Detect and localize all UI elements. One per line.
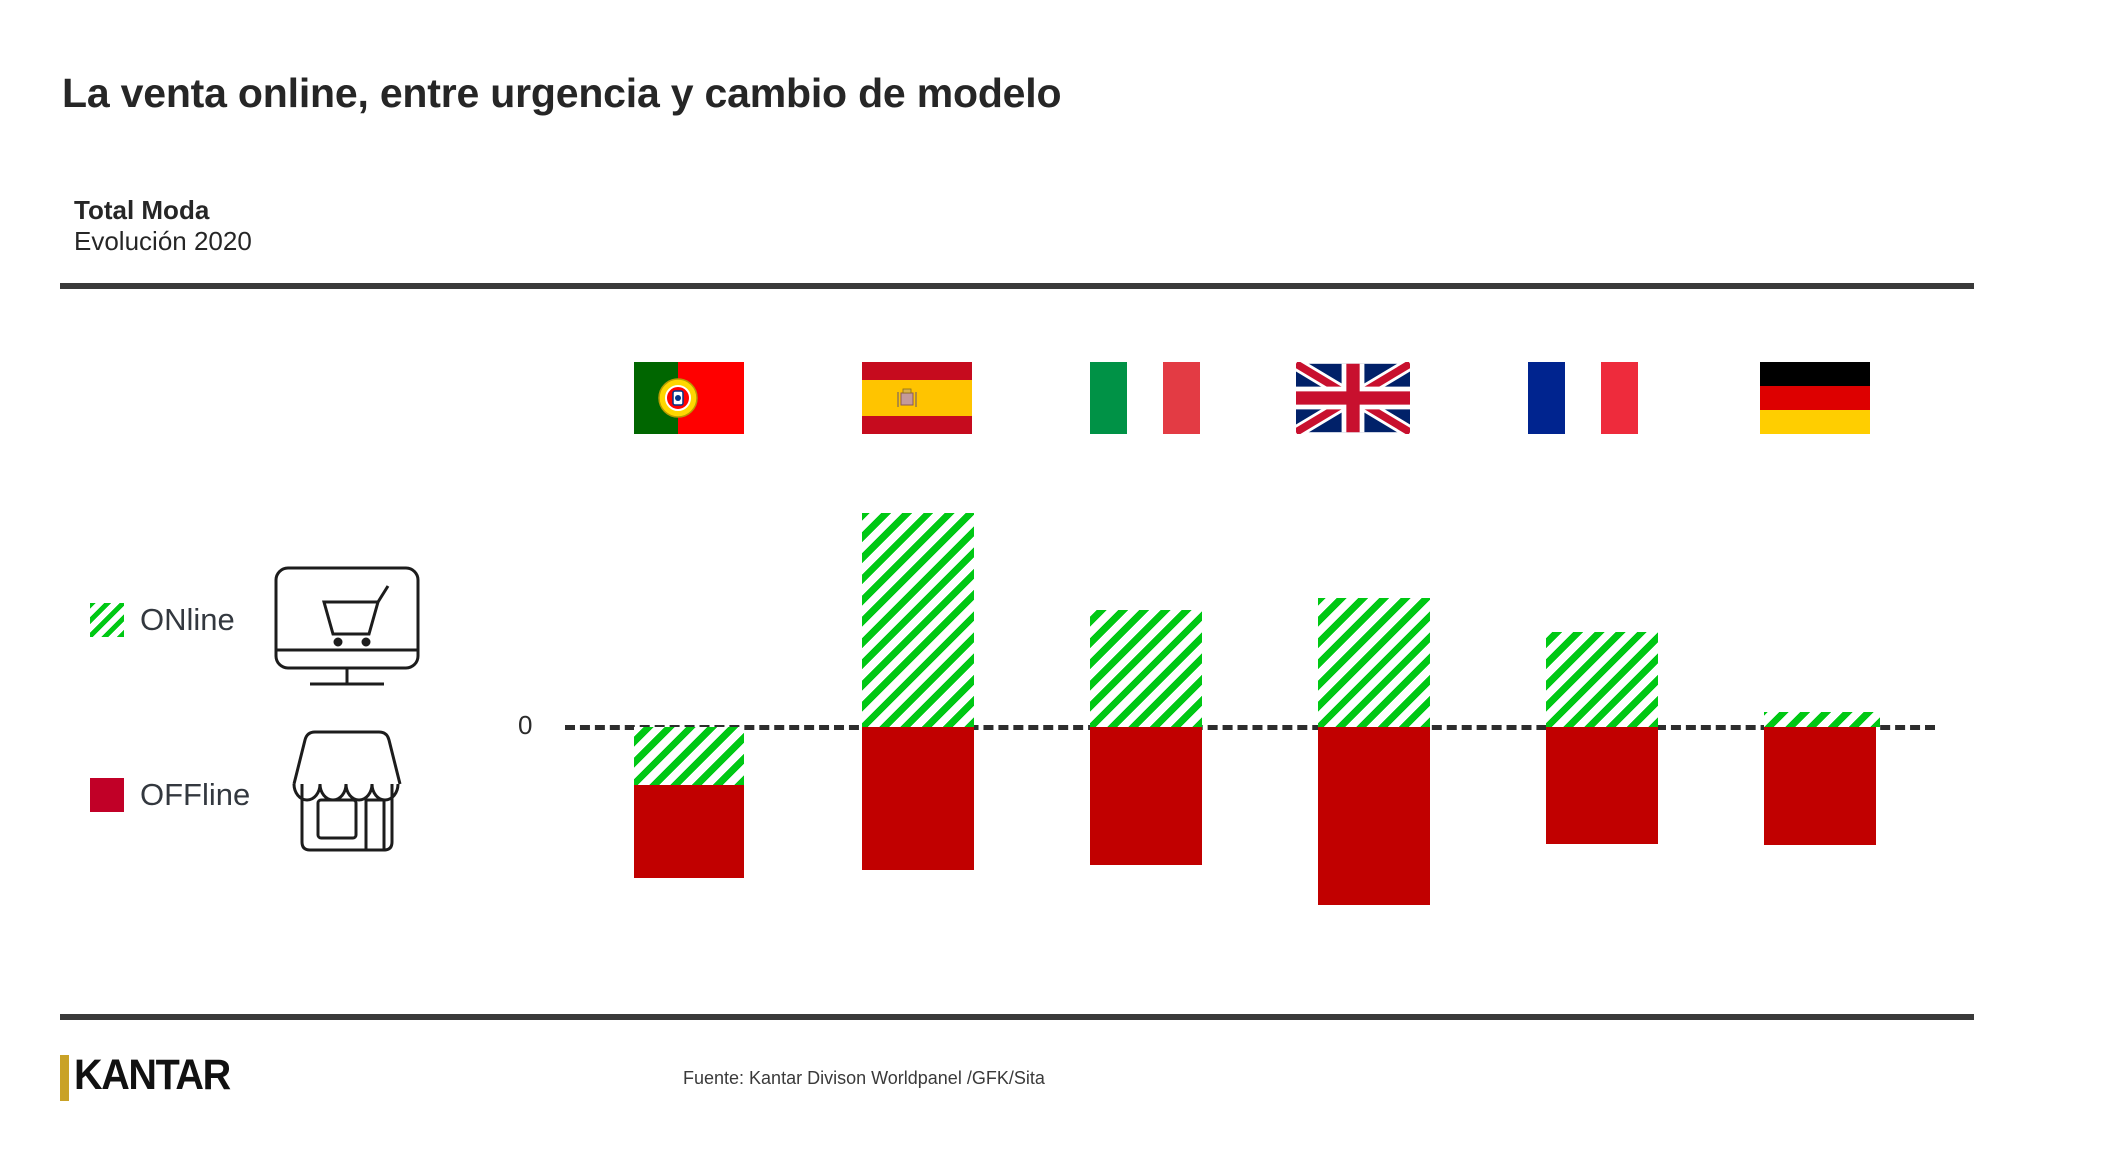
zero-baseline — [565, 725, 1935, 730]
legend-item-online[interactable]: ONline — [90, 600, 235, 640]
spain-flag-icon — [862, 362, 972, 434]
subtitle-primary: Total Moda — [74, 195, 252, 226]
storefront-icon — [272, 722, 422, 877]
header-divider — [60, 283, 1974, 289]
legend-label-online: ONline — [140, 602, 235, 638]
kantar-wordmark: KANTAR — [74, 1055, 230, 1101]
subtitle-block: Total Moda Evolución 2020 — [74, 195, 252, 256]
bar-online-portugal[interactable] — [634, 727, 744, 785]
subtitle-secondary: Evolución 2020 — [74, 226, 252, 257]
uk-flag-icon — [1296, 362, 1410, 434]
footer-divider — [60, 1014, 1974, 1020]
legend-swatch-offline-icon — [90, 778, 124, 812]
legend-label-offline: OFFline — [140, 777, 250, 813]
germany-flag-icon — [1760, 362, 1870, 434]
bar-online-italy[interactable] — [1090, 610, 1202, 727]
axis-zero-label: 0 — [518, 710, 532, 741]
bar-offline-spain[interactable] — [862, 727, 974, 870]
italy-flag-icon — [1090, 362, 1200, 434]
bar-online-spain[interactable] — [862, 513, 974, 727]
bar-offline-italy[interactable] — [1090, 727, 1202, 865]
portugal-flag-icon — [634, 362, 744, 434]
bar-online-france[interactable] — [1546, 632, 1658, 727]
monitor-cart-icon — [272, 562, 422, 707]
bar-offline-france[interactable] — [1546, 727, 1658, 844]
kantar-logo: KANTAR — [60, 1055, 243, 1101]
bar-offline-uk[interactable] — [1318, 727, 1430, 905]
kantar-accent-bar — [60, 1055, 69, 1101]
legend-swatch-online-icon — [90, 603, 124, 637]
page-title: La venta online, entre urgencia y cambio… — [62, 70, 1061, 117]
bar-offline-germany[interactable] — [1764, 727, 1876, 845]
bar-online-germany[interactable] — [1764, 712, 1880, 727]
source-note: Fuente: Kantar Divison Worldpanel /GFK/S… — [683, 1068, 1045, 1089]
bar-online-uk[interactable] — [1318, 598, 1430, 727]
bar-offline-portugal[interactable] — [634, 785, 744, 878]
france-flag-icon — [1528, 362, 1638, 434]
legend-item-offline[interactable]: OFFline — [90, 775, 250, 815]
